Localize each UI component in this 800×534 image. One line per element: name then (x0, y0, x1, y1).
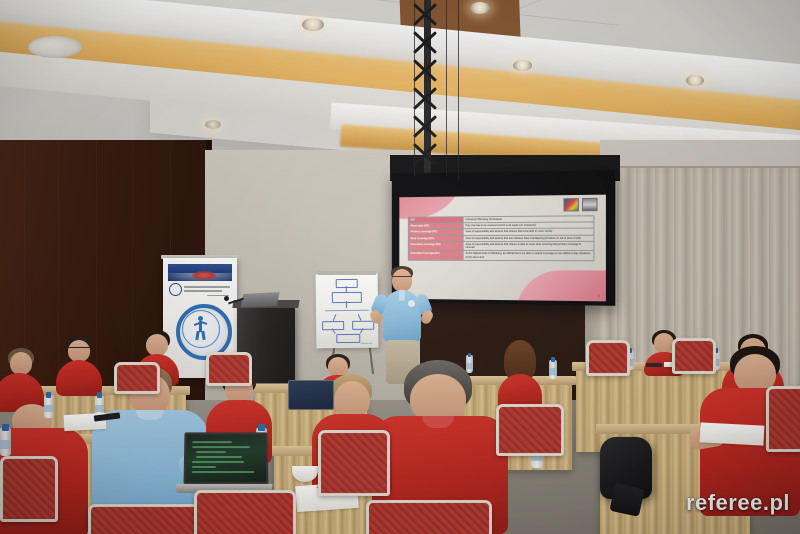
attendee (0, 348, 46, 412)
banner-emblem-icon (192, 271, 216, 280)
projector-wire (458, 0, 459, 180)
table-row: Extended Coverage (EC) At the highest le… (408, 251, 594, 261)
banquet-chair (0, 456, 58, 522)
slide-row-key: Extended Coverage (EC) (408, 251, 463, 260)
flipchart-clamp (318, 271, 376, 275)
player-figure-icon (193, 316, 209, 340)
conference-room-photo: IOT Individual Officiating Techniques Di… (0, 0, 800, 534)
water-bottle (549, 357, 557, 379)
federation-seal-icon (169, 283, 182, 296)
flipchart-board (316, 274, 379, 349)
head (392, 269, 412, 292)
banquet-chair (366, 500, 492, 534)
microphone-icon (224, 296, 229, 301)
head (654, 333, 674, 353)
slide-number: 5 (598, 294, 600, 298)
laptop-screen (184, 432, 269, 484)
secondary-logo-icon (582, 198, 598, 211)
recessed-downlight (302, 18, 324, 31)
banquet-chair (88, 504, 210, 534)
banquet-chair (586, 340, 630, 376)
notepad (700, 422, 765, 445)
recessed-downlight (205, 120, 221, 129)
glasses-icon (392, 276, 412, 280)
open-laptop (178, 432, 266, 488)
table-row: Secondary coverage (SC) Area of responsi… (408, 241, 594, 251)
collar (399, 290, 406, 301)
watermark: referee.pl (686, 490, 790, 516)
banquet-chair (766, 386, 800, 452)
attendee-laptop (288, 380, 334, 410)
lectern-laptop (240, 292, 279, 308)
head (10, 352, 32, 375)
banquet-chair (206, 352, 252, 386)
shirt-logo-icon (408, 300, 415, 307)
banner-header-band (168, 264, 232, 281)
banquet-chair (496, 404, 564, 456)
remote-control (646, 363, 662, 367)
head (146, 334, 168, 356)
glasses-icon (68, 347, 90, 351)
recessed-downlight (470, 2, 490, 14)
banner-text-line (184, 290, 222, 292)
banner-text-line (184, 286, 230, 288)
slide-logo-group (564, 198, 598, 212)
banquet-chair (194, 490, 296, 534)
projector-wire (414, 0, 415, 176)
slide-row-text: At the highest level of officiating, an … (463, 251, 594, 261)
organisation-logo-icon (564, 198, 579, 211)
banquet-chair (114, 362, 160, 394)
ceiling-speaker (28, 36, 82, 58)
slide-row-key: Secondary coverage (SC) (408, 241, 463, 250)
slide-decoration-bottom-right (516, 270, 606, 301)
water-bottle (0, 424, 11, 456)
recessed-downlight (686, 75, 704, 86)
head (68, 340, 90, 362)
water-bottle (44, 392, 53, 418)
recessed-downlight (513, 60, 532, 71)
backpack-strap (609, 483, 644, 517)
slide-decoration-top-left (399, 195, 466, 219)
slide-definition-table: IOT Individual Officiating Techniques Di… (408, 215, 595, 261)
banquet-chair (318, 430, 390, 496)
slide-row-text: Area of responsibility and actions that … (463, 241, 594, 251)
projector-wire (446, 0, 447, 176)
